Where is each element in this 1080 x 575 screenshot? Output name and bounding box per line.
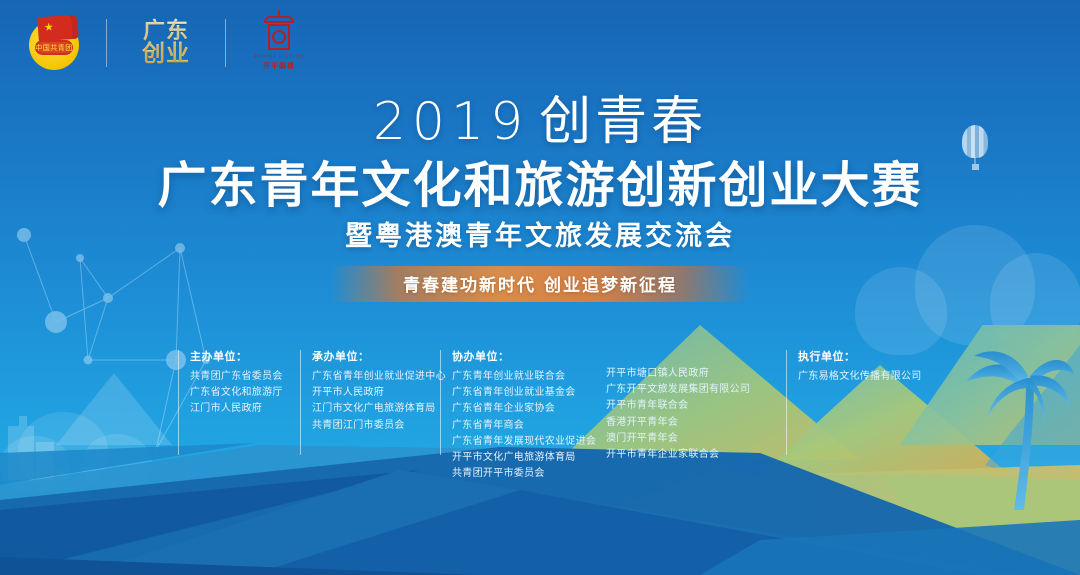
kaiping-diaolou-logo-icon: KAIPING DIAOLOU 开平碉楼 xyxy=(248,14,310,72)
logo-divider-2 xyxy=(225,19,226,67)
diaolou-tower-shape xyxy=(264,16,294,50)
organizer-item: 广东省青年创业就业促进中心 xyxy=(312,369,440,385)
title-main: 广东青年文化和旅游创新创业大赛 xyxy=(0,160,1080,212)
organizer-item: 广东易格文化传播有限公司 xyxy=(798,369,936,385)
organizer-item: 广东省文化和旅游厅 xyxy=(190,385,300,401)
logo-kaiping-diaolou: KAIPING DIAOLOU 开平碉楼 xyxy=(248,14,310,72)
organizer-heading xyxy=(606,348,772,361)
gd-logo-line1: 广东 xyxy=(143,21,189,42)
title-block: 2019创青春 广东青年文化和旅游创新创业大赛 暨粤港澳青年文旅发展交流会 青春… xyxy=(0,96,1080,302)
emblem-flag: ★ xyxy=(37,15,79,42)
organizer-item: 共青团开平市委员会 xyxy=(452,466,606,482)
communist-youth-league-emblem-icon: ★ 中国共青团 xyxy=(26,14,84,72)
organizer-item: 广东省青年商会 xyxy=(452,418,606,434)
organizer-item: 广东开平文旅发展集团有限公司 xyxy=(606,382,772,398)
kaiping-logo-en: KAIPING DIAOLOU xyxy=(248,54,310,59)
poster-canvas: ★ 中国共青团 广东 创业 xyxy=(0,0,1080,575)
emblem-star-icon: ★ xyxy=(44,21,55,33)
organizer-heading: 承办单位： xyxy=(312,348,440,364)
logo-guangdong-chuangye: 广东 创业 xyxy=(129,16,203,70)
title-year: 2019 xyxy=(373,92,529,152)
organizer-heading: 执行单位： xyxy=(798,348,936,364)
kaiping-logo-cn: 开平碉楼 xyxy=(248,61,310,71)
organizer-item: 开平市青年企业家联合会 xyxy=(606,447,772,463)
organizer-item: 澳门开平青年会 xyxy=(606,431,772,447)
organizer-item: 共青团江门市委员会 xyxy=(312,418,440,434)
organizer-item: 江门市人民政府 xyxy=(190,401,300,417)
emblem-ring-text: 中国共青团 xyxy=(37,42,71,53)
title-year-cn: 创青春 xyxy=(539,92,707,152)
organizer-item: 共青团广东省委员会 xyxy=(190,369,300,385)
organizer-heading: 协办单位： xyxy=(452,348,606,364)
organizer-item: 广东省青年创业就业基金会 xyxy=(452,385,606,401)
organizer-item: 开平市青年联合会 xyxy=(606,398,772,414)
gd-logo-line2: 创业 xyxy=(142,43,190,65)
title-sub: 暨粤港澳青年文旅发展交流会 xyxy=(0,222,1080,252)
organizer-item: 江门市文化广电旅游体育局 xyxy=(312,401,440,417)
organizer-columns: 主办单位： 共青团广东省委员会 广东省文化和旅游厅 江门市人民政府 承办单位： … xyxy=(178,348,1050,482)
diaolou-body xyxy=(268,24,290,50)
emblem-ring: 中国共青团 xyxy=(35,40,73,55)
organizer-column-coorganizer-continued: 开平市塘口镇人民政府 广东开平文旅发展集团有限公司 开平市青年联合会 香港开平青… xyxy=(606,348,772,463)
organizer-item: 广东青年创业就业联合会 xyxy=(452,369,606,385)
slogan-text: 青春建功新时代 创业追梦新征程 xyxy=(330,266,750,302)
organizer-item: 广东省青年企业家协会 xyxy=(452,401,606,417)
organizer-item: 开平市塘口镇人民政府 xyxy=(606,366,772,382)
slogan-banner: 青春建功新时代 创业追梦新征程 xyxy=(0,266,1080,302)
gd-logo-text: 广东 创业 xyxy=(129,16,203,70)
diaolou-stem xyxy=(278,10,280,18)
logo-bar: ★ 中国共青团 广东 创业 xyxy=(26,14,310,72)
organizer-column-executor: 执行单位： 广东易格文化传播有限公司 xyxy=(786,348,936,385)
organizer-column-undertaker: 承办单位： 广东省青年创业就业促进中心 开平市人民政府 江门市文化广电旅游体育局… xyxy=(300,348,440,434)
title-year-line: 2019创青春 xyxy=(0,96,1080,148)
logo-divider-1 xyxy=(106,19,107,67)
logo-league-emblem: ★ 中国共青团 xyxy=(26,14,84,72)
guangdong-chuangye-logo-icon: 广东 创业 xyxy=(129,16,203,70)
organizer-item: 开平市人民政府 xyxy=(312,385,440,401)
organizer-item: 广东省青年发展现代农业促进会 xyxy=(452,434,606,450)
organizer-column-host: 主办单位： 共青团广东省委员会 广东省文化和旅游厅 江门市人民政府 xyxy=(178,348,300,418)
organizer-heading: 主办单位： xyxy=(190,348,300,364)
organizer-item: 香港开平青年会 xyxy=(606,415,772,431)
organizer-item: 开平市文化广电旅游体育局 xyxy=(452,450,606,466)
organizer-column-coorganizer: 协办单位： 广东青年创业就业联合会 广东省青年创业就业基金会 广东省青年企业家协… xyxy=(440,348,606,482)
